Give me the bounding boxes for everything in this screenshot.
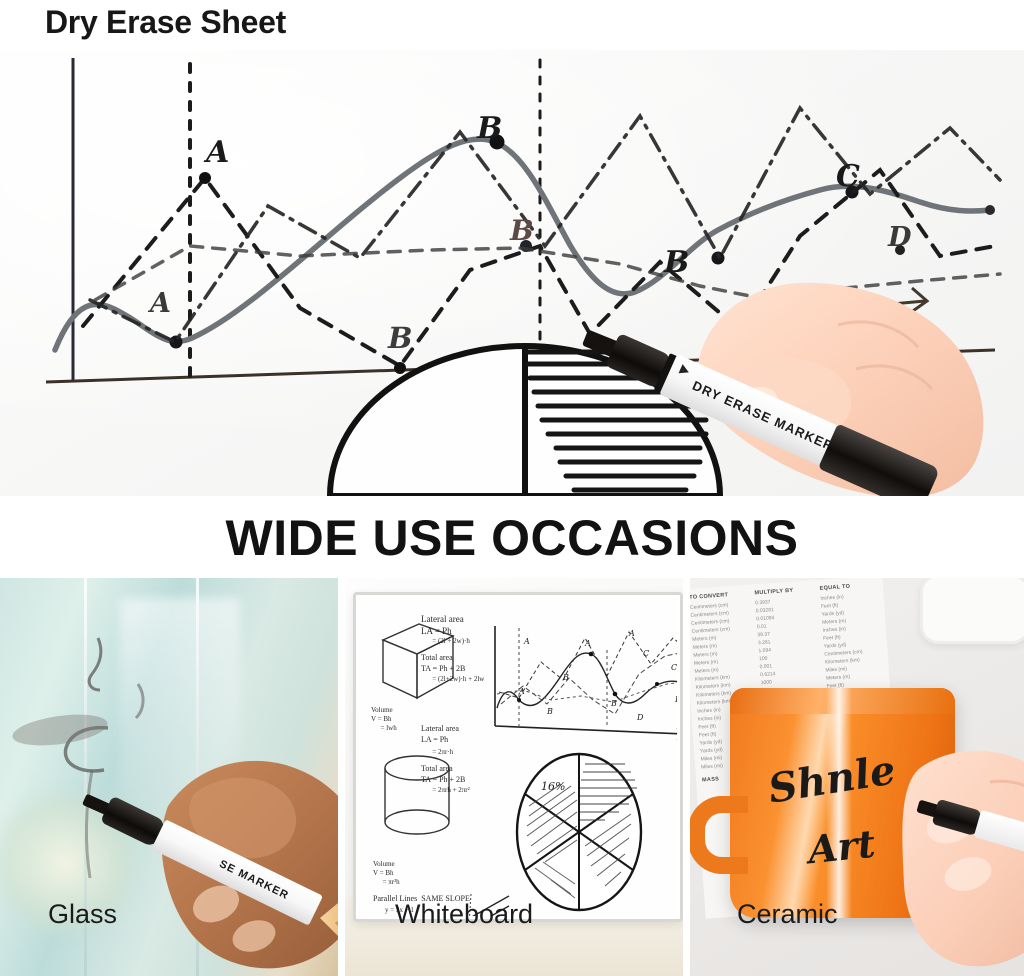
cylinder-volume-formula-2: = πr²h [379, 878, 400, 886]
svg-text:A: A [147, 288, 171, 319]
conv-col-equal: EQUAL TO [819, 582, 877, 592]
svg-text:A: A [628, 629, 635, 638]
conv-col-multiply: MULTIPLY BY [754, 586, 812, 596]
hand-icon [890, 728, 1024, 976]
panel-whiteboard: Volume V = Bh = lwh Volume V = Bh = πr²h [345, 578, 683, 976]
svg-text:C: C [643, 649, 649, 658]
prism-total-area-title: Total area [421, 653, 453, 662]
svg-text:B: B [387, 321, 413, 355]
svg-text:B: B [610, 699, 617, 708]
whiteboard-surface: Volume V = Bh = lwh Volume V = Bh = πr²h [359, 598, 677, 916]
mug-handwriting-line-1: Shnle [765, 746, 898, 812]
cylinder-volume-note: Volume [373, 860, 395, 868]
cylinder-total-area-title: Total area [421, 764, 453, 773]
prism-lateral-area-title: Lateral area [421, 614, 464, 624]
svg-text:C: C [671, 663, 677, 672]
cylinder-lateral-area-formula: LA = Ph [421, 735, 448, 744]
cylinder-total-area-expanded: = 2πrh + 2πr² [427, 786, 470, 794]
prism-total-area-formula: TA = Ph + 2B [421, 664, 465, 673]
svg-text:D: D [674, 695, 677, 704]
cylinder-total-area-formula: TA = Ph + 2B [421, 775, 465, 784]
whiteboard-frame: Volume V = Bh = lwh Volume V = Bh = πr²h [353, 592, 683, 922]
pie-value-label: 16% [541, 780, 565, 793]
white-container-object [920, 578, 1024, 644]
cylinder-volume-formula: V = Bh [373, 869, 394, 877]
svg-text:A: A [584, 639, 591, 648]
section-headline: WIDE USE OCCASIONS [0, 498, 1024, 578]
headline-text: WIDE USE OCCASIONS [226, 509, 799, 567]
cube-volume-note: Volume [371, 706, 393, 715]
cube-volume-formula: V = Bh [371, 715, 392, 723]
hero-whiteboard-photo: A A B B B B C D D [0, 50, 1024, 496]
svg-text:A: A [523, 637, 530, 646]
svg-text:A: A [203, 135, 229, 170]
svg-text:B: B [546, 707, 553, 716]
panel-glass: SE MARKER Glass [0, 578, 338, 976]
board-line-chart: AAA A BBB CC DD [489, 622, 677, 747]
product-marketing-page: Dry Erase Sheet [0, 0, 1024, 976]
panel-ceramic: TO CONVERT MULTIPLY BY EQUAL TO Centimet… [690, 578, 1024, 976]
conv-col-convert: TO CONVERT [690, 591, 747, 601]
page-title: Dry Erase Sheet [45, 4, 286, 41]
prism-lateral-area-expanded: = (2l + 2w)·h [427, 637, 470, 645]
svg-text:B: B [562, 673, 569, 682]
prism-lateral-area-formula: LA = Ph [421, 626, 452, 636]
panel-label-ceramic: Ceramic [737, 899, 838, 930]
mug-handle [690, 796, 748, 874]
svg-text:B: B [476, 111, 502, 146]
mug-handwriting-line-2: Art [806, 821, 877, 873]
cylinder-lateral-area-expanded: = 2πr·h [427, 748, 453, 756]
svg-text:D: D [636, 713, 644, 722]
svg-text:D: D [887, 222, 912, 253]
use-case-panels: SE MARKER Glass Volume V = Bh = lwh [0, 578, 1024, 976]
cylinder-lateral-area-title: Lateral area [421, 724, 459, 733]
cube-volume-formula-2: = lwh [377, 724, 397, 732]
title-bar: Dry Erase Sheet [0, 0, 1024, 50]
panel-label-whiteboard: Whiteboard [395, 899, 533, 930]
svg-text:A: A [518, 687, 525, 696]
prism-total-area-expanded: = (2l+2w)·h + 2lw [427, 675, 484, 683]
svg-text:C: C [836, 159, 860, 194]
board-pie-chart: 16% [505, 750, 655, 915]
panel-label-glass: Glass [48, 899, 117, 930]
svg-text:B: B [509, 214, 534, 247]
